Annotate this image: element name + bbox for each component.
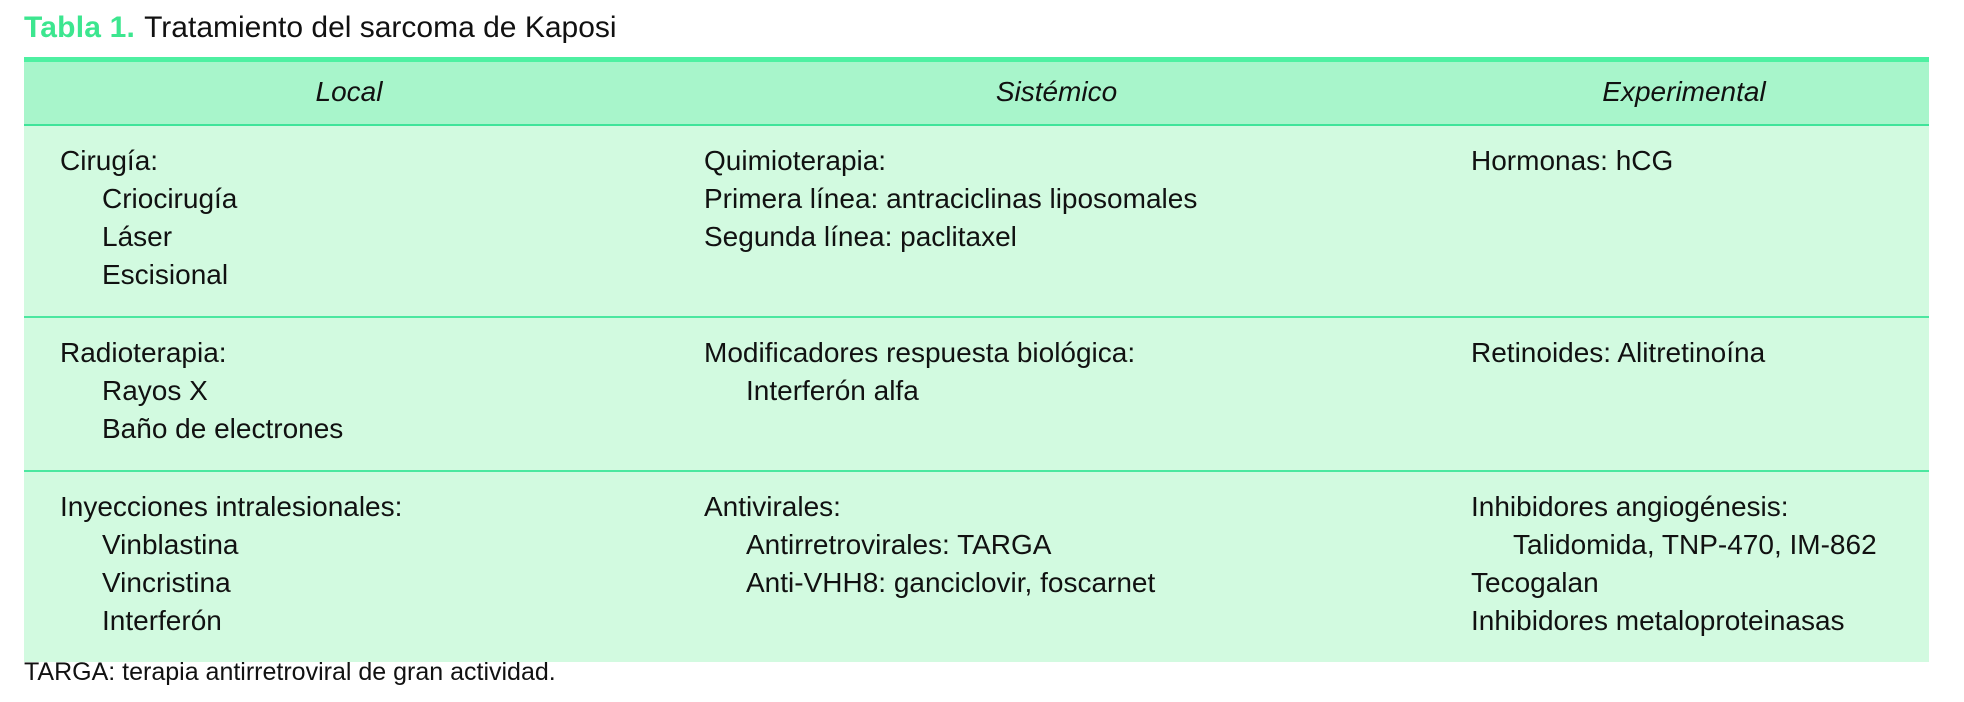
cell-line: Escisional [60, 256, 662, 294]
cell-line: Inhibidores metaloproteinasas [1471, 602, 1917, 640]
table-row: Radioterapia: Rayos X Baño de electrones… [24, 317, 1929, 471]
cell-line: Talidomida, TNP-470, IM-862 [1471, 526, 1917, 564]
cell-local-1: Cirugía: Criocirugía Láser Escisional [24, 125, 674, 317]
table-caption-title: Tratamiento del sarcoma de Kaposi [144, 11, 616, 44]
table-row: Cirugía: Criocirugía Láser Escisional Qu… [24, 125, 1929, 317]
cell-line: Interferón alfa [704, 372, 1427, 410]
cell-line: Vinblastina [60, 526, 662, 564]
table-figure: Tabla 1.Tratamiento del sarcoma de Kapos… [0, 0, 1964, 702]
column-header-experimental: Experimental [1439, 62, 1929, 125]
cell-experimental-1: Hormonas: hCG [1439, 125, 1929, 317]
table-row: Inyecciones intralesionales: Vinblastina… [24, 471, 1929, 662]
column-header-local: Local [24, 62, 674, 125]
cell-line: Inhibidores angiogénesis: [1471, 488, 1917, 526]
cell-line: Segunda línea: paclitaxel [704, 218, 1427, 256]
kaposi-treatment-table: Local Sistémico Experimental Cirugía: Cr… [24, 57, 1929, 662]
cell-line: Anti-VHH8: ganciclovir, foscarnet [704, 564, 1427, 602]
cell-line: Antirretrovirales: TARGA [704, 526, 1427, 564]
table-caption-label: Tabla 1. [24, 11, 135, 44]
table-caption: Tabla 1.Tratamiento del sarcoma de Kapos… [24, 8, 617, 48]
cell-line: Criocirugía [60, 180, 662, 218]
cell-line: Inyecciones intralesionales: [60, 488, 662, 526]
cell-line: Radioterapia: [60, 334, 662, 372]
cell-local-3: Inyecciones intralesionales: Vinblastina… [24, 471, 674, 662]
cell-line: Hormonas: hCG [1471, 142, 1917, 180]
cell-local-2: Radioterapia: Rayos X Baño de electrones [24, 317, 674, 471]
column-header-sistemico: Sistémico [674, 62, 1439, 125]
cell-experimental-2: Retinoides: Alitretinoína [1439, 317, 1929, 471]
cell-line: Vincristina [60, 564, 662, 602]
cell-sistemico-3: Antivirales: Antirretrovirales: TARGA An… [674, 471, 1439, 662]
cell-sistemico-2: Modificadores respuesta biológica: Inter… [674, 317, 1439, 471]
cell-line: Tecogalan [1471, 564, 1917, 602]
cell-line: Primera línea: antraciclinas liposomales [704, 180, 1427, 218]
cell-line: Quimioterapia: [704, 142, 1427, 180]
cell-line: Antivirales: [704, 488, 1427, 526]
cell-line: Modificadores respuesta biológica: [704, 334, 1427, 372]
cell-line: Interferón [60, 602, 662, 640]
cell-line: Láser [60, 218, 662, 256]
table-header-row: Local Sistémico Experimental [24, 62, 1929, 125]
table-footnote: TARGA: terapia antirretroviral de gran a… [24, 656, 556, 688]
cell-line: Cirugía: [60, 142, 662, 180]
cell-sistemico-1: Quimioterapia: Primera línea: antracicli… [674, 125, 1439, 317]
cell-line: Rayos X [60, 372, 662, 410]
cell-experimental-3: Inhibidores angiogénesis: Talidomida, TN… [1439, 471, 1929, 662]
cell-line: Baño de electrones [60, 410, 662, 448]
cell-line: Retinoides: Alitretinoína [1471, 334, 1917, 372]
